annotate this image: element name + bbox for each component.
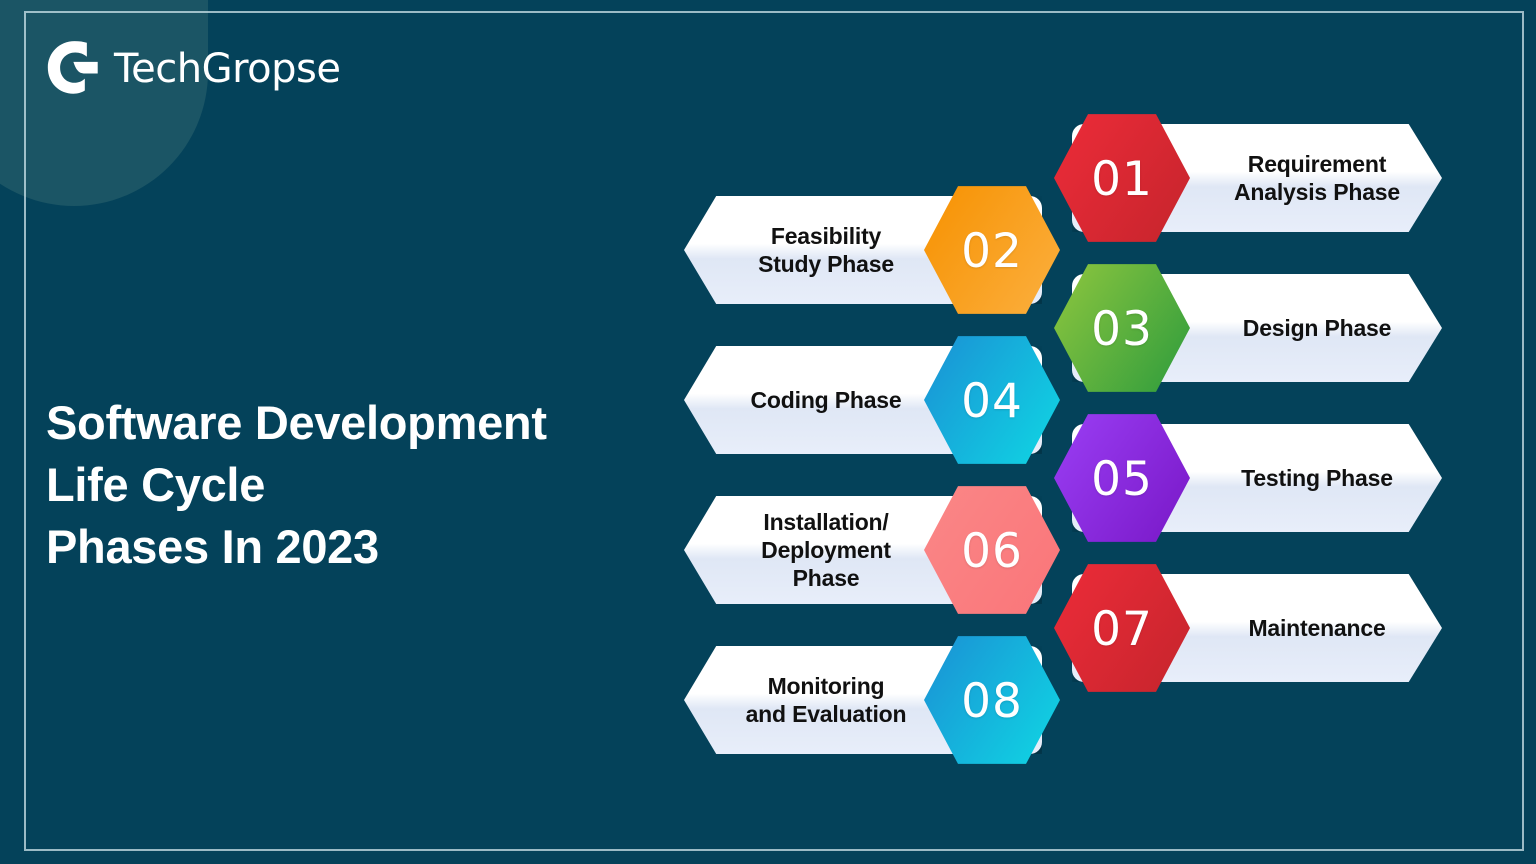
phase-column-left: 02FeasibilityStudy Phase04Coding Phase06… bbox=[684, 196, 1042, 796]
phase-number: 01 bbox=[1091, 156, 1153, 203]
phase-step-02[interactable]: 02FeasibilityStudy Phase bbox=[684, 196, 1042, 304]
page-title-line-2: Life Cycle bbox=[46, 454, 547, 516]
phase-label: Coding Phase bbox=[710, 346, 942, 454]
phase-number: 03 bbox=[1091, 306, 1153, 353]
phase-step-05[interactable]: 05Testing Phase bbox=[1072, 424, 1442, 532]
phase-number: 05 bbox=[1091, 456, 1153, 503]
phase-label-line: Design Phase bbox=[1243, 314, 1391, 342]
phase-label: Maintenance bbox=[1202, 574, 1432, 682]
phase-step-01[interactable]: 01RequirementAnalysis Phase bbox=[1072, 124, 1442, 232]
phase-step-06[interactable]: 06Installation/DeploymentPhase bbox=[684, 496, 1042, 604]
phase-number: 07 bbox=[1091, 606, 1153, 653]
phase-label-line: Feasibility bbox=[758, 222, 894, 250]
phase-column-right: 01RequirementAnalysis Phase03Design Phas… bbox=[1072, 124, 1442, 724]
phase-label: Design Phase bbox=[1202, 274, 1432, 382]
phase-number: 04 bbox=[961, 378, 1023, 425]
phase-label-line: and Evaluation bbox=[746, 700, 907, 728]
phase-label-line: Analysis Phase bbox=[1234, 178, 1400, 206]
phase-label-line: Study Phase bbox=[758, 250, 894, 278]
brand-logo: TechGropse bbox=[42, 38, 340, 100]
phase-label: RequirementAnalysis Phase bbox=[1202, 124, 1432, 232]
brand-wordmark: TechGropse bbox=[114, 49, 340, 89]
phase-label-line: Installation/ bbox=[761, 508, 891, 536]
page-title-line-3: Phases In 2023 bbox=[46, 516, 547, 578]
page-title-line-1: Software Development bbox=[46, 392, 547, 454]
techgropse-g-logo-icon bbox=[42, 38, 104, 100]
phase-label: Monitoringand Evaluation bbox=[710, 646, 942, 754]
phase-step-04[interactable]: 04Coding Phase bbox=[684, 346, 1042, 454]
phase-label-line: Requirement bbox=[1234, 150, 1400, 178]
phase-label-line: Phase bbox=[761, 564, 891, 592]
phase-label-line: Coding Phase bbox=[751, 386, 902, 414]
phase-step-07[interactable]: 07Maintenance bbox=[1072, 574, 1442, 682]
phase-label-line: Testing Phase bbox=[1241, 464, 1393, 492]
phase-number: 08 bbox=[961, 678, 1023, 725]
phase-label-line: Maintenance bbox=[1248, 614, 1385, 642]
phase-label-line: Monitoring bbox=[746, 672, 907, 700]
phase-label: Testing Phase bbox=[1202, 424, 1432, 532]
phase-step-08[interactable]: 08Monitoringand Evaluation bbox=[684, 646, 1042, 754]
decorative-leaf-shape bbox=[0, 0, 208, 206]
page-title: Software Development Life Cycle Phases I… bbox=[46, 392, 547, 578]
phase-label: Installation/DeploymentPhase bbox=[710, 496, 942, 604]
phase-label-line: Deployment bbox=[761, 536, 891, 564]
phase-number: 02 bbox=[961, 228, 1023, 275]
phase-label: FeasibilityStudy Phase bbox=[710, 196, 942, 304]
phase-step-03[interactable]: 03Design Phase bbox=[1072, 274, 1442, 382]
phase-number: 06 bbox=[961, 528, 1023, 575]
